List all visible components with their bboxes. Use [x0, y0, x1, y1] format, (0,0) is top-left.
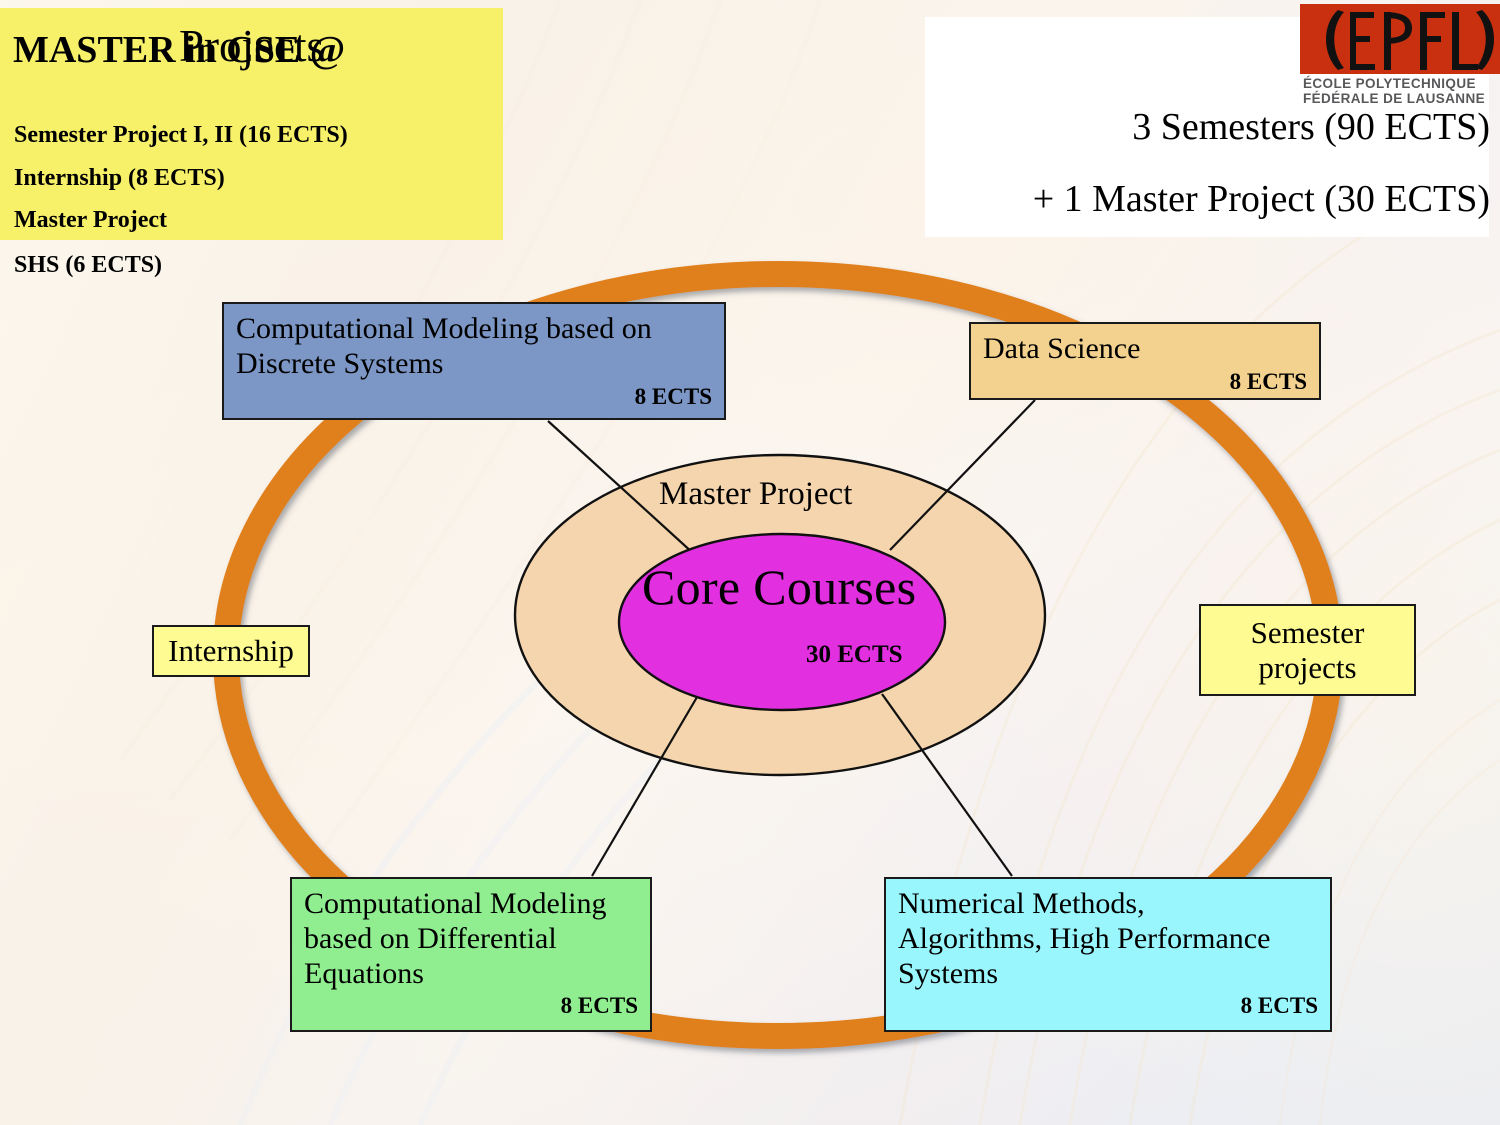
node-title: Computational Modeling based on Differen… — [304, 887, 638, 991]
core-courses-label: Core Courses — [642, 558, 916, 616]
node-ects: 8 ECTS — [898, 993, 1318, 1020]
epfl-subtitle-line-2: FÉDÉRALE DE LAUSANNE — [1303, 91, 1485, 106]
node-data-science[interactable]: Data Science 8 ECTS — [969, 322, 1321, 400]
pill-internship[interactable]: Internship — [152, 625, 310, 677]
epfl-logo: ÉCOLE POLYTECHNIQUE FÉDÉRALE DE LAUSANNE — [1300, 0, 1500, 108]
node-ects: 8 ECTS — [304, 993, 638, 1020]
master-project-label: Master Project — [659, 476, 852, 513]
projects-line-item: Master Project — [14, 207, 167, 234]
master-header-line: + 1 Master Project (30 ECTS) — [1033, 177, 1490, 221]
master-header-title: MASTER in CSE @ — [13, 28, 345, 72]
node-title: Data Science — [983, 332, 1307, 367]
node-ects: 8 ECTS — [983, 369, 1307, 396]
projects-line-item: Internship (8 ECTS) — [14, 165, 225, 192]
node-title: Computational Modeling based on Discrete… — [236, 312, 712, 382]
core-courses-ects: 30 ECTS — [806, 641, 903, 669]
pill-semester-projects[interactable]: Semester projects — [1199, 604, 1416, 696]
epfl-wordmark-icon — [1300, 4, 1500, 74]
node-title: Numerical Methods, Algorithms, High Perf… — [898, 887, 1318, 991]
epfl-subtitle-line-1: ÉCOLE POLYTECHNIQUE — [1303, 76, 1476, 91]
node-computational-modeling-differential-equations[interactable]: Computational Modeling based on Differen… — [290, 877, 652, 1032]
master-header-line: 3 Semesters (90 ECTS) — [1132, 105, 1490, 149]
slide-canvas: Master Project Core Courses 30 ECTS Comp… — [0, 0, 1500, 1125]
projects-line-item: SHS (6 ECTS) — [14, 252, 162, 279]
projects-line-item: Semester Project I, II (16 ECTS) — [14, 122, 348, 149]
node-computational-modeling-discrete-systems[interactable]: Computational Modeling based on Discrete… — [222, 302, 726, 420]
node-ects: 8 ECTS — [236, 384, 712, 411]
node-numerical-methods-algorithms-hpc[interactable]: Numerical Methods, Algorithms, High Perf… — [884, 877, 1332, 1032]
